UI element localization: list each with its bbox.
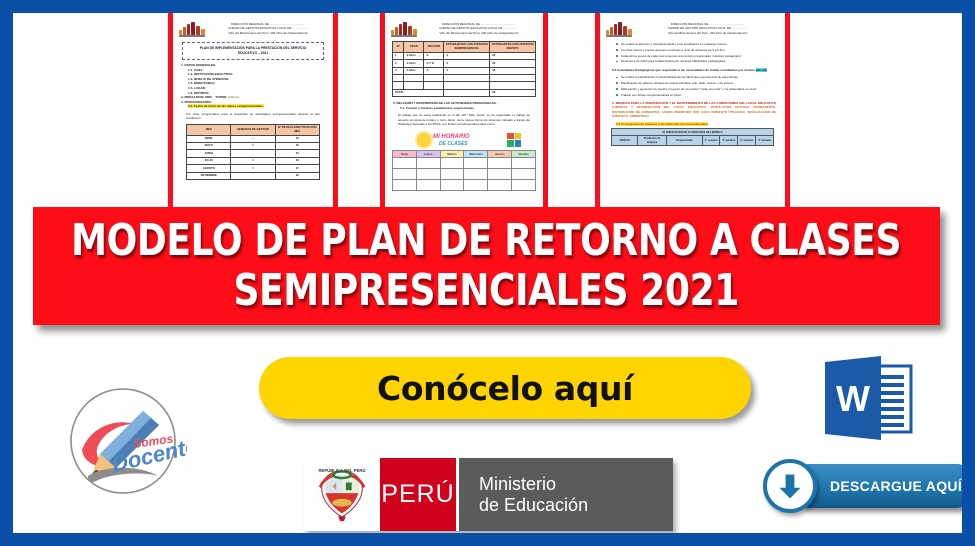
- doc2-r1c0: 2: [393, 60, 404, 67]
- doc2-total-value: 68: [490, 89, 536, 96]
- word-icon-svg: W: [819, 356, 917, 443]
- table-row: JUNIO 21: [187, 150, 320, 157]
- doc3-bullet-mid-0: Se realiza la planificación contextualiz…: [616, 75, 776, 79]
- doc1-r5c1: [231, 172, 275, 179]
- poster-root: DIRECCIÓN REGIONAL DE ..................…: [0, 0, 975, 546]
- doc2-r4c3: [444, 82, 490, 89]
- cell: [488, 168, 512, 179]
- document-2-header: DIRECCIÓN REGIONAL DE ..................…: [389, 17, 539, 39]
- crest-republic-label: REPÚBLICA DEL PERÚ: [318, 467, 365, 472]
- doc1-header-line3: "Año del Bicentenario del Perú: 200 años…: [209, 31, 327, 35]
- doc1-r4c2: 17: [275, 165, 319, 172]
- doc1-r0c0: ABRIL: [187, 135, 231, 142]
- doc2-th-0: Nº: [393, 42, 404, 53]
- document-1-page: DIRECCIÓN REGIONAL DE ..................…: [177, 17, 329, 216]
- peru-coat-of-arms-icon: REPÚBLICA DEL PERÚ: [313, 467, 371, 523]
- document-1-header: DIRECCIÓN REGIONAL DE ..................…: [177, 17, 329, 39]
- sun-icon: [417, 133, 431, 147]
- microsoft-word-icon: W: [819, 356, 917, 443]
- table-row: ABRIL --- 10: [187, 135, 320, 142]
- doc2-r1c1: 4 Años: [404, 60, 424, 67]
- doc1-r2c0: JUNIO: [187, 150, 231, 157]
- table-row: SETIEMBRE 22: [187, 172, 320, 179]
- cell: [488, 179, 512, 190]
- doc3-bullet-mid-2: Elaboración y ejecución de nuestro proye…: [616, 87, 776, 91]
- table-header-row: MES SEMANAS DE GESTIÓN Nº DE DÍAS EFECTI…: [187, 124, 320, 135]
- doc1-r4c1: 1: [231, 165, 275, 172]
- doc3-bullet-top-0: Se realiza la atención y retroalimentaci…: [616, 42, 776, 46]
- document-3-header: DIRECCIÓN REGIONAL DE ..................…: [604, 17, 781, 39]
- cell: [464, 179, 488, 190]
- cell: [488, 157, 512, 168]
- doc2-r2c2: A: [424, 67, 444, 74]
- cell: [416, 179, 440, 190]
- peru-label: PERÚ: [381, 480, 454, 509]
- document-thumbnail-3[interactable]: DIRECCIÓN REGIONAL DE ..................…: [595, 13, 790, 221]
- doc3-th-2: Responsable: [667, 136, 703, 146]
- ministry-line-2: de Educación: [479, 495, 673, 516]
- doc3-th-0: TAREAS: [612, 136, 638, 146]
- table-row: MAYO 1 16: [187, 143, 320, 150]
- doc2-r2c4: 18: [490, 67, 536, 74]
- doc2-r0c3: 0: [444, 52, 490, 59]
- doc3-th-3: 1ª semana: [702, 136, 720, 146]
- doc2-section-list: 5. RELACIÓN Y DESCRIPCIÓN DE LAS ACTIVID…: [393, 101, 535, 110]
- doc1-r4c0: AGOSTO: [187, 165, 231, 172]
- institution-crest-icon: [179, 22, 205, 37]
- table-row: [393, 168, 536, 179]
- doc3-section-heading-row: 5.2 Actividades Pedagógicas que responde…: [612, 68, 776, 73]
- doc2-r3c4: [490, 75, 536, 82]
- doc2-r4c1: [404, 82, 424, 89]
- doc2-r4c4: [490, 82, 536, 89]
- doc1-r1c1: 1: [231, 143, 275, 150]
- conocelo-aqui-button[interactable]: Conócelo aquí: [259, 357, 751, 419]
- doc1-modalidad: 2. MODALIDAD: EBR: [181, 95, 212, 99]
- cell: [393, 168, 417, 179]
- doc3-th-5: 3ª semana: [738, 136, 756, 146]
- crest-tree: [346, 482, 352, 490]
- doc2-day-1: Lunes: [416, 150, 440, 157]
- color-blocks-icon: [507, 133, 521, 147]
- doc2-day-0: Hora: [393, 150, 417, 157]
- doc3-yellow-heading: 6.1 Cronograma de limpieza y desinfecció…: [616, 122, 708, 126]
- crest-base: [338, 516, 346, 521]
- document-thumbnail-2[interactable]: DIRECCIÓN REGIONAL DE ..................…: [380, 13, 548, 221]
- doc2-r2c1: 5 Años: [404, 67, 424, 74]
- doc1-r2c1: [231, 150, 275, 157]
- doc2-th-4: ESTUDIANTES CON ATENCIÓN REMOTA: [490, 42, 536, 53]
- doc2-schedule-title-2: DE CLASES: [439, 141, 468, 147]
- doc2-r4c2: [424, 82, 444, 89]
- doc2-r4c0: [393, 82, 404, 89]
- doc3-bullet-top-1: Los días martes y jueves tenemos reunion…: [616, 48, 776, 52]
- doc1-r3c0: JULIO: [187, 157, 231, 164]
- peru-crest-cell: REPÚBLICA DEL PERÚ: [304, 458, 380, 531]
- cell: [416, 168, 440, 179]
- doc3-red-heading-2: (LIMPIEZA Y DESINFECCIÓN DEL LOCAL EDUCA…: [612, 105, 776, 118]
- table-row: 2 4 Años A Y B 0 20: [393, 60, 536, 67]
- doc2-r3c1: [404, 75, 424, 82]
- ministry-line-1: Ministerio: [479, 474, 673, 495]
- doc3-th-4: 2ª semana: [720, 136, 738, 146]
- doc1-paragraph: 3.2. Días programados para el desarrollo…: [186, 112, 320, 121]
- doc1-subitem-highlight-row: 3.1. Fecha de inicio de las clases semip…: [181, 104, 325, 109]
- doc1-general-data-list: 1. DATOS GENERALES. 1.1. UGEL: 1.2. INST…: [181, 63, 325, 109]
- document-3-page: DIRECCIÓN REGIONAL DE ..................…: [604, 17, 781, 216]
- doc3-bullets-top: Se realiza la atención y retroalimentaci…: [616, 42, 776, 64]
- doc2-r3c3: [444, 75, 490, 82]
- doc1-r5c0: SETIEMBRE: [187, 172, 231, 179]
- doc2-r1c4: 20: [490, 60, 536, 67]
- cell: [440, 168, 464, 179]
- doc1-month-table: MES SEMANAS DE GESTIÓN Nº DE DÍAS EFECTI…: [186, 124, 320, 180]
- cell: [512, 168, 536, 179]
- doc2-th-3: ESTUDIANTES CON ATENCIÓN SEMIPRESENCIAL: [444, 42, 490, 53]
- doc2-schedule-table: Hora Lunes Martes Miércoles Jueves Viern…: [392, 150, 536, 191]
- doc2-r3c0: [393, 75, 404, 82]
- doc1-r5c2: 22: [275, 172, 319, 179]
- title-line-1: MODELO DE PLAN DE RETORNO A CLASES: [71, 216, 901, 266]
- doc3-section-heading-highlight: (Inicial): [756, 68, 767, 72]
- doc1-r1c2: 16: [275, 143, 319, 150]
- peru-label-cell: PERÚ: [380, 458, 456, 531]
- doc3-bullet-top-3: Reuniones de GIAS para fortalecimiento d…: [616, 59, 776, 63]
- table-total-row: TOTAL 68: [393, 89, 536, 96]
- table-header-row: Hora Lunes Martes Miércoles Jueves Viern…: [393, 150, 536, 157]
- table-row: JULIO 1 16: [187, 157, 320, 164]
- cell: [440, 157, 464, 168]
- doc2-total-label: TOTAL: [393, 89, 444, 96]
- doc2-subsection: 5.1. Formas y horarios establecidos segú…: [393, 106, 535, 111]
- doc2-r0c0: 1: [393, 52, 404, 59]
- document-2-page: DIRECCIÓN REGIONAL DE ..................…: [389, 17, 539, 216]
- table-row: 3 5 Años A 0 18: [393, 67, 536, 74]
- download-arrow-icon: [775, 471, 805, 501]
- download-button-pill[interactable]: DESCARGUE AQUÍ: [801, 464, 962, 508]
- crest-cornucopia: [332, 498, 351, 506]
- doc3-cleaning-table: PLANIFICACIÓN DE ACTIVIDADES DE LIMPIEZA…: [611, 128, 774, 146]
- doc2-r0c2: A: [424, 52, 444, 59]
- ministry-label-cell: Ministerio de Educación: [459, 458, 673, 531]
- doc2-day-4: Jueves: [488, 150, 512, 157]
- doc1-r3c1: 1: [231, 157, 275, 164]
- institution-crest-icon: [606, 22, 632, 37]
- doc1-th-2: Nº DE DÍAS EFECTIVOS POR MES: [275, 124, 319, 135]
- doc2-th-2: SECCIÓN: [424, 42, 444, 53]
- doc3-bullet-mid-1: Planificación de talleres virtuales de p…: [616, 81, 776, 85]
- somos-docentes-logo: Somos Docentes: [60, 384, 187, 502]
- doc3-bullets-mid: Se realiza la planificación contextualiz…: [616, 75, 776, 97]
- doc2-schedule-graphic: MI HORARIO DE CLASES: [389, 132, 539, 148]
- table-row: [393, 82, 536, 89]
- doc2-total-blank: [444, 89, 490, 96]
- title-line-2: SEMIPRESENCIALES 2021: [234, 266, 739, 316]
- table-row: [393, 179, 536, 190]
- doc1-th-1: SEMANAS DE GESTIÓN: [231, 124, 275, 135]
- descargue-aqui-button[interactable]: DESCARGUE AQUÍ: [763, 459, 962, 513]
- title-banner: MODELO DE PLAN DE RETORNO A CLASES SEMIP…: [33, 207, 940, 325]
- cell: [464, 157, 488, 168]
- table-caption-row: PLANIFICACIÓN DE ACTIVIDADES DE LIMPIEZA: [612, 129, 774, 136]
- doc1-th-0: MES: [187, 124, 231, 135]
- doc3-header-line3: "Año del Bicentenario del Perú: 200 años…: [636, 31, 779, 35]
- doc3-yellow-heading-row: 6.1 Cronograma de limpieza y desinfecció…: [616, 122, 776, 127]
- doc1-r1c0: MAYO: [187, 143, 231, 150]
- doc2-day-5: Viernes: [512, 150, 536, 157]
- cell: [512, 157, 536, 168]
- doc1-turno-value: Mañana: [228, 95, 239, 99]
- doc1-title-line2: EDUCATIVO – 2021: [185, 51, 321, 56]
- doc2-r2c3: 0: [444, 67, 490, 74]
- doc1-r0c1: ---: [231, 135, 275, 142]
- doc2-r3c2: [424, 75, 444, 82]
- doc2-r1c2: A Y B: [424, 60, 444, 67]
- download-button-label: DESCARGUE AQUÍ: [830, 478, 962, 494]
- doc2-r0c4: 20: [490, 52, 536, 59]
- doc1-title-box: PLAN DE IMPLEMENTACIÓN PARA LA PRESTACIÓ…: [182, 42, 324, 60]
- doc3-bullet-top-2: Cada último jueves de cada mes tenemos u…: [616, 54, 776, 58]
- doc2-r1c3: 0: [444, 60, 490, 67]
- doc3-th-1: Productos de limpieza: [637, 136, 666, 146]
- table-header-row: Nº EDAD SECCIÓN ESTUDIANTES CON ATENCIÓN…: [393, 42, 536, 53]
- cell: [440, 179, 464, 190]
- doc2-schedule-title-1: MI HORARIO: [433, 134, 470, 140]
- somos-docentes-logo-svg: Somos Docentes: [60, 384, 187, 502]
- doc2-paragraph: El trabajo que se viene realizando en la…: [398, 113, 530, 126]
- table-row: AGOSTO 1 17: [187, 165, 320, 172]
- minedu-logo: REPÚBLICA DEL PERÚ PERÚ Ministerio de Ed…: [304, 458, 673, 531]
- doc1-r2c2: 21: [275, 150, 319, 157]
- table-row: 1 3 Años A 0 20: [393, 52, 536, 59]
- table-row: [393, 157, 536, 168]
- doc2-r0c1: 3 Años: [404, 52, 424, 59]
- doc3-section-heading: 5.2 Actividades Pedagógicas que responde…: [612, 68, 755, 72]
- doc2-day-2: Martes: [440, 150, 464, 157]
- doc1-turno-label: TURNO:: [215, 95, 227, 99]
- doc1-r0c2: 10: [275, 135, 319, 142]
- institution-crest-icon: [391, 22, 417, 37]
- doc3-th-6: 4ª semana: [756, 136, 774, 146]
- doc2-header-line3: "Año del Bicentenario del Perú: 200 años…: [421, 31, 537, 35]
- word-icon-letter: W: [836, 378, 870, 419]
- download-icon-circle[interactable]: [763, 459, 817, 513]
- doc2-r2c0: 3: [393, 67, 404, 74]
- poster-canvas: DIRECCIÓN REGIONAL DE ..................…: [13, 13, 962, 533]
- table-header-row: TAREAS Productos de limpieza Responsable…: [612, 136, 774, 146]
- doc1-r3c2: 16: [275, 157, 319, 164]
- doc2-day-3: Miércoles: [464, 150, 488, 157]
- doc3-table-caption: PLANIFICACIÓN DE ACTIVIDADES DE LIMPIEZA: [612, 129, 774, 136]
- doc1-subitem-highlight: 3.1. Fecha de inicio de las clases semip…: [188, 104, 264, 108]
- cell: [464, 168, 488, 179]
- cell: [393, 157, 417, 168]
- cell: [393, 179, 417, 190]
- doc3-red-heading-row: 6. MEDIDAS PARA LA PREPARACIÓN Y EL MANT…: [612, 101, 776, 119]
- cta-button-label: Conócelo aquí: [377, 369, 633, 408]
- cell: [512, 179, 536, 190]
- doc2-th-1: EDAD: [404, 42, 424, 53]
- doc3-bullet-mid-3: Trabajo con fichas complementarias en fí…: [616, 93, 776, 97]
- document-thumbnail-1[interactable]: DIRECCIÓN REGIONAL DE ..................…: [168, 13, 338, 221]
- table-row: [393, 75, 536, 82]
- cell: [416, 157, 440, 168]
- doc2-students-table: Nº EDAD SECCIÓN ESTUDIANTES CON ATENCIÓN…: [392, 41, 536, 97]
